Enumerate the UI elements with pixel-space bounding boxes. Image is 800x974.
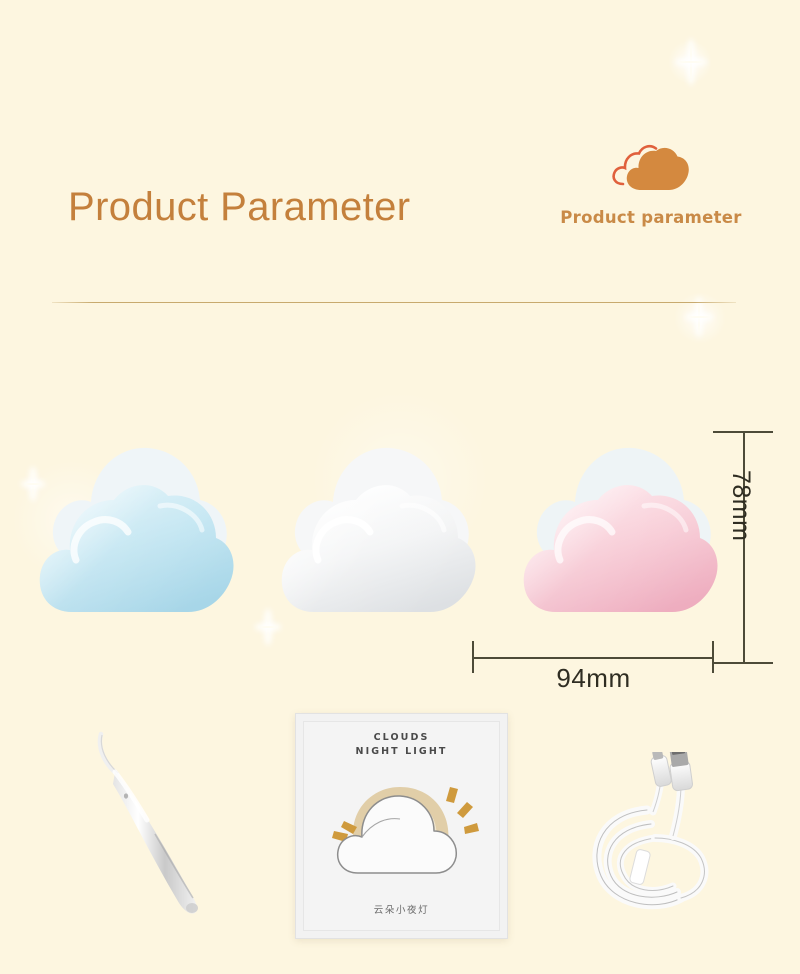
header-divider bbox=[52, 302, 736, 303]
product-package-box: CLOUDS NIGHT LIGHT 云朵小夜 bbox=[295, 713, 508, 939]
usb-charging-cable bbox=[585, 752, 760, 927]
height-dimension-cap-bottom bbox=[713, 662, 773, 664]
product-parameter-page: Product Parameter Product parameter bbox=[0, 0, 800, 974]
white-cloud-lamp bbox=[270, 430, 490, 630]
height-dimension-label: 78mm bbox=[726, 470, 755, 541]
pink-cloud-lamp bbox=[512, 430, 732, 630]
cloud-icon bbox=[611, 140, 691, 194]
cloud-glow-icon bbox=[324, 769, 479, 889]
height-dimension-line bbox=[743, 432, 745, 664]
blue-cloud-lamp bbox=[28, 430, 248, 630]
brand-block: Product parameter bbox=[556, 140, 746, 227]
package-title: CLOUDS NIGHT LIGHT bbox=[296, 731, 507, 759]
sparkle-icon bbox=[688, 300, 710, 334]
package-title-line-2: NIGHT LIGHT bbox=[296, 745, 507, 759]
brand-label: Product parameter bbox=[556, 208, 746, 227]
page-title: Product Parameter bbox=[68, 185, 411, 230]
width-dimension-label: 94mm bbox=[473, 663, 714, 694]
adhesive-wall-hook bbox=[95, 722, 245, 937]
sparkle-icon bbox=[678, 42, 704, 82]
product-gallery bbox=[0, 430, 800, 645]
width-dimension-line bbox=[473, 657, 714, 659]
package-title-line-1: CLOUDS bbox=[296, 731, 507, 745]
package-subtitle: 云朵小夜灯 bbox=[296, 902, 507, 916]
